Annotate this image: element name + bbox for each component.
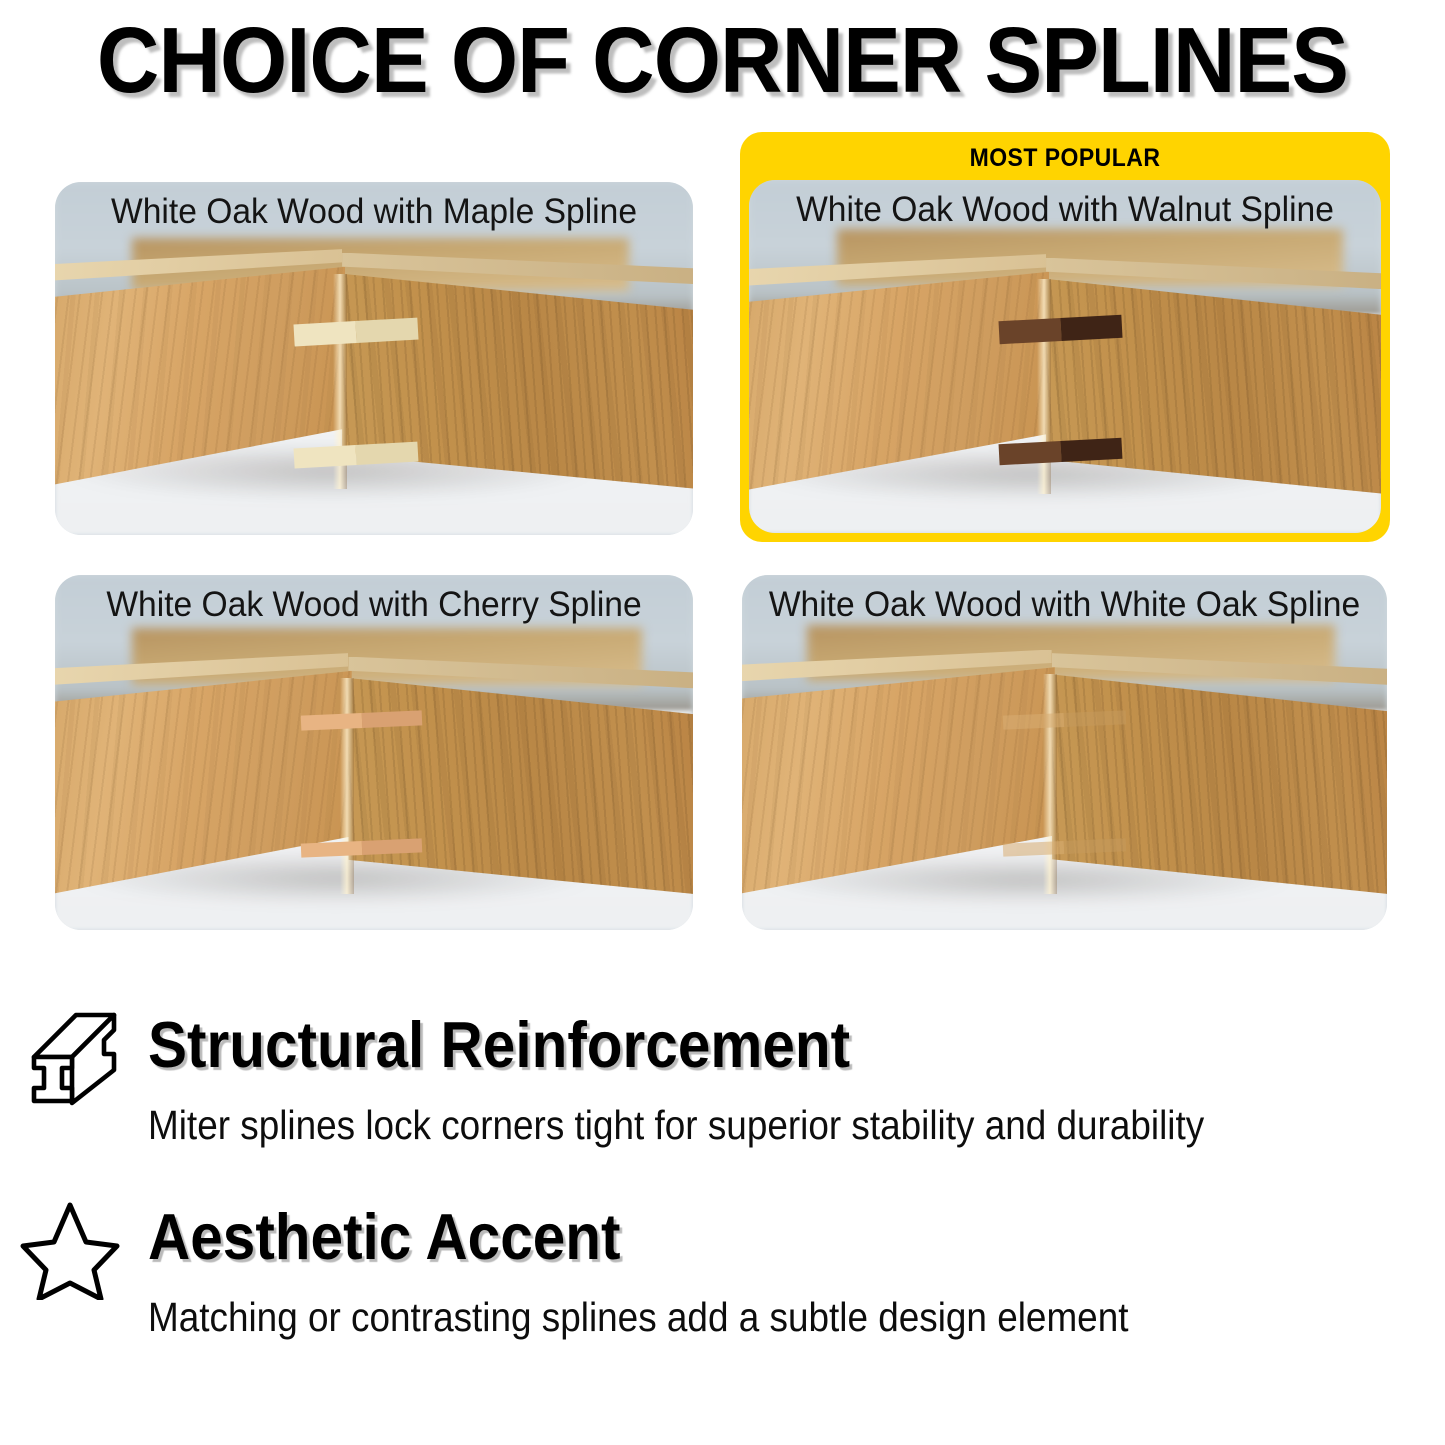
spline-face-left (294, 321, 357, 346)
option-caption-white-oak: White Oak Wood with White Oak Spline (755, 584, 1374, 626)
option-photo-white-oak (742, 575, 1387, 930)
feature-subtext: Matching or contrasting splines add a su… (148, 1292, 1128, 1342)
option-photo-maple (55, 182, 693, 535)
option-card-cherry[interactable]: White Oak Wood with Cherry Spline (55, 575, 693, 930)
option-card-walnut[interactable]: White Oak Wood with Walnut Spline (749, 180, 1381, 533)
feature-heading: Aesthetic Accent (148, 1200, 620, 1274)
option-caption-cherry: White Oak Wood with Cherry Spline (68, 584, 680, 626)
feature-subtext: Miter splines lock corners tight for sup… (148, 1100, 1204, 1150)
spline-options-grid: White Oak Wood with Maple Spline MOST PO… (0, 0, 1445, 960)
spline-face-right (356, 318, 419, 343)
feature-structural-reinforcement: Structural Reinforcement Miter splines l… (0, 1000, 1445, 1175)
option-card-maple[interactable]: White Oak Wood with Maple Spline (55, 182, 693, 535)
option-card-white-oak[interactable]: White Oak Wood with White Oak Spline (742, 575, 1387, 930)
option-photo-cherry (55, 575, 693, 930)
feature-heading: Structural Reinforcement (148, 1008, 850, 1082)
option-caption-walnut: White Oak Wood with Walnut Spline (762, 189, 1369, 231)
option-photo-walnut (749, 180, 1381, 533)
option-caption-maple: White Oak Wood with Maple Spline (68, 191, 680, 233)
star-icon (18, 1200, 122, 1300)
i-beam-icon (14, 1008, 122, 1108)
most-popular-badge: MOST POPULAR (766, 142, 1364, 174)
feature-aesthetic-accent: Aesthetic Accent Matching or contrasting… (0, 1192, 1445, 1367)
